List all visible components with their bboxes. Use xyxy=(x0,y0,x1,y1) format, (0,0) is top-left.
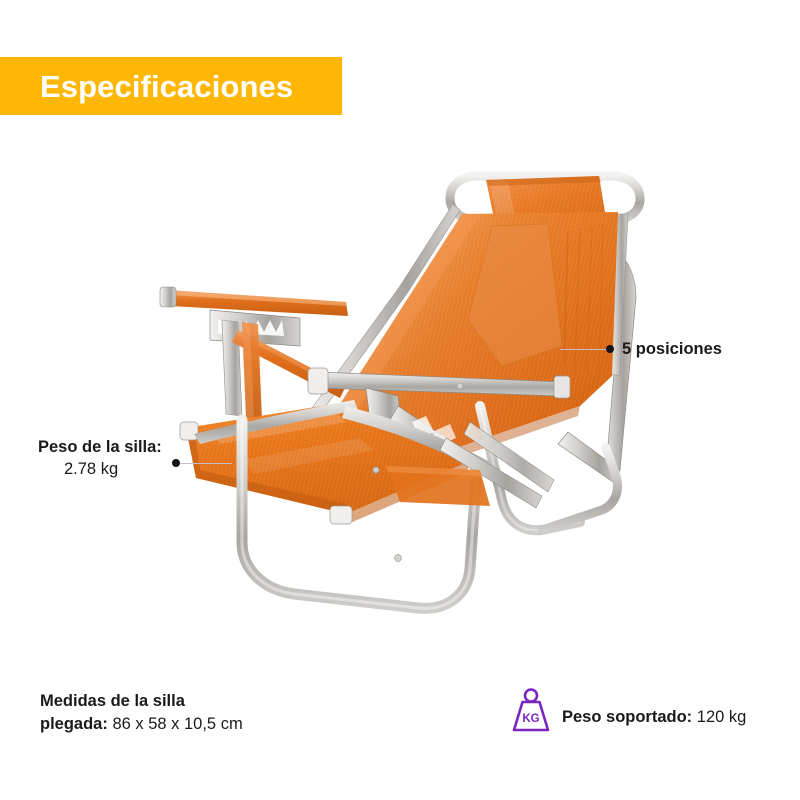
spec-supported-weight-value: 120 kg xyxy=(697,708,747,726)
leader-line-chair-weight xyxy=(180,463,232,465)
kg-weight-icon: KG xyxy=(508,686,554,734)
leader-dot-chair-weight xyxy=(172,459,180,467)
spec-folded-dimensions-line1: Medidas de la silla xyxy=(40,690,243,713)
callout-chair-weight-label: Peso de la silla: xyxy=(38,438,162,456)
leader-dot-positions xyxy=(606,345,614,353)
spec-folded-dimensions-line2: plegada: 86 x 58 x 10,5 cm xyxy=(40,713,243,736)
callout-positions-label: 5 posiciones xyxy=(622,340,722,358)
leader-line-positions xyxy=(560,349,608,351)
callout-chair-weight-value: 2.78 kg xyxy=(38,458,162,480)
spec-folded-dimensions-label2: plegada: xyxy=(40,715,108,733)
header-banner: Especificaciones xyxy=(0,57,342,115)
specifications-page: Especificaciones xyxy=(0,0,800,800)
spec-folded-dimensions-label1: Medidas de la silla xyxy=(40,692,185,710)
svg-text:KG: KG xyxy=(522,713,539,725)
spec-supported-weight: Peso soportado: 120 kg xyxy=(562,706,746,729)
callout-positions: 5 posiciones xyxy=(622,338,722,360)
spec-supported-weight-label: Peso soportado: xyxy=(562,708,692,726)
product-image-beach-chair xyxy=(150,170,660,620)
spec-folded-dimensions: Medidas de la silla plegada: 86 x 58 x 1… xyxy=(40,690,243,737)
callout-chair-weight: Peso de la silla: 2.78 kg xyxy=(38,436,162,481)
page-title: Especificaciones xyxy=(0,71,293,102)
spec-folded-dimensions-value: 86 x 58 x 10,5 cm xyxy=(112,715,242,733)
